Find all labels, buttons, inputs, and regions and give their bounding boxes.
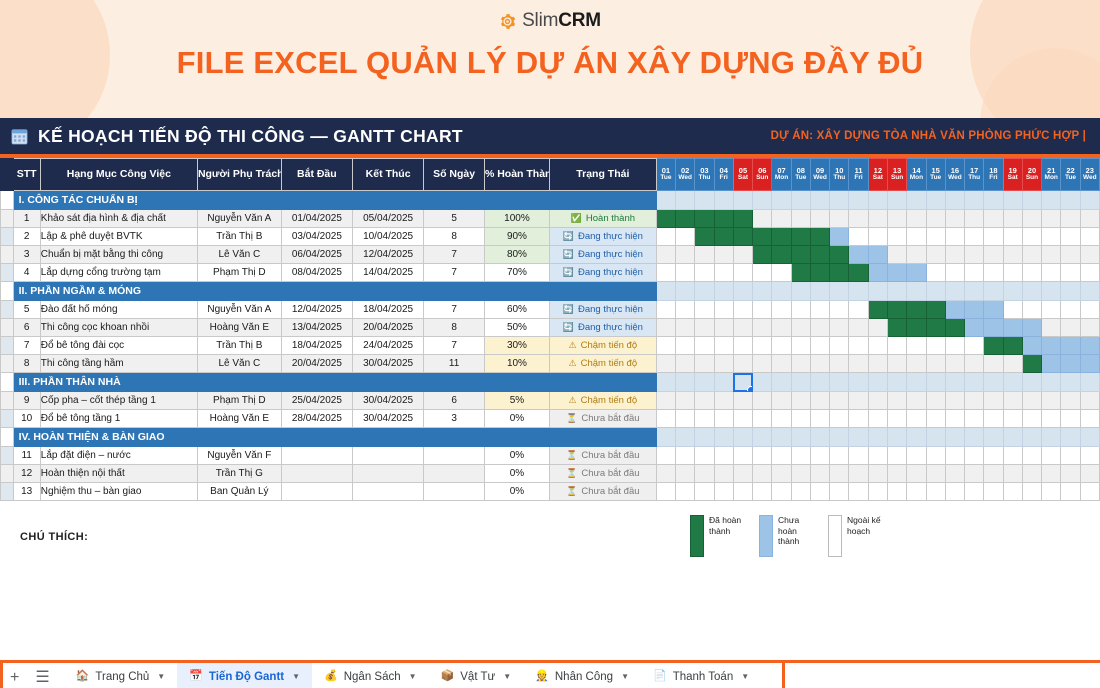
col-header-end[interactable]: Kết Thúc xyxy=(352,159,423,191)
gantt-cell-empty[interactable] xyxy=(1080,410,1099,428)
gantt-cell-empty[interactable] xyxy=(887,447,906,465)
gantt-cell-empty[interactable] xyxy=(849,319,868,337)
gantt-bar-completed[interactable] xyxy=(945,319,964,337)
cell-start-date[interactable]: 28/04/2025 xyxy=(281,410,352,428)
gantt-cell-empty[interactable] xyxy=(965,465,984,483)
cell-start-date[interactable] xyxy=(281,465,352,483)
cell-task-name[interactable]: Thi công cọc khoan nhồi xyxy=(40,319,197,337)
gantt-cell-empty[interactable] xyxy=(926,465,945,483)
gantt-cell-empty[interactable] xyxy=(907,465,926,483)
gantt-cell-empty[interactable] xyxy=(714,355,733,373)
gantt-cell-empty[interactable] xyxy=(656,465,675,483)
gantt-bar-completed[interactable] xyxy=(887,301,906,319)
gantt-cell-empty[interactable] xyxy=(965,246,984,264)
gantt-cell-empty[interactable] xyxy=(1003,301,1022,319)
gantt-cell-empty[interactable] xyxy=(945,410,964,428)
section-gantt-cell[interactable] xyxy=(945,282,964,301)
gantt-cell-empty[interactable] xyxy=(1022,264,1041,282)
gantt-bar-remaining[interactable] xyxy=(887,264,906,282)
gantt-cell-empty[interactable] xyxy=(1080,392,1099,410)
gantt-bar-remaining[interactable] xyxy=(1080,355,1099,373)
chevron-down-icon[interactable]: ▼ xyxy=(292,672,300,681)
table-row[interactable]: 1Khảo sát địa hình & địa chấtNguyễn Văn … xyxy=(1,210,1100,228)
gantt-cell-empty[interactable] xyxy=(965,337,984,355)
section-gantt-cell[interactable] xyxy=(676,428,695,447)
gantt-cell-empty[interactable] xyxy=(772,392,791,410)
gantt-bar-completed[interactable] xyxy=(810,264,829,282)
section-gantt-cell[interactable] xyxy=(791,282,810,301)
gantt-bar-remaining[interactable] xyxy=(1080,337,1099,355)
gantt-cell-empty[interactable] xyxy=(868,319,887,337)
section-gantt-cell[interactable] xyxy=(965,191,984,210)
cell-duration-days[interactable]: 8 xyxy=(424,228,485,246)
gantt-bar-completed[interactable] xyxy=(676,210,695,228)
gantt-cell-empty[interactable] xyxy=(868,355,887,373)
gantt-cell-empty[interactable] xyxy=(1061,465,1080,483)
gantt-cell-empty[interactable] xyxy=(984,210,1003,228)
all-sheets-menu-button[interactable]: ☰ xyxy=(35,670,49,686)
row-gutter[interactable] xyxy=(1,447,14,465)
section-gantt-cell[interactable] xyxy=(907,282,926,301)
gantt-cell-empty[interactable] xyxy=(887,392,906,410)
section-gantt-cell[interactable] xyxy=(1080,428,1099,447)
gantt-cell-empty[interactable] xyxy=(830,301,849,319)
cell-stt[interactable]: 12 xyxy=(13,465,40,483)
cell-person[interactable]: Hoàng Văn E xyxy=(197,319,281,337)
gantt-cell-empty[interactable] xyxy=(810,465,829,483)
gantt-cell-empty[interactable] xyxy=(1022,210,1041,228)
gantt-cell-empty[interactable] xyxy=(965,392,984,410)
section-gantt-cell[interactable] xyxy=(887,282,906,301)
gantt-cell-empty[interactable] xyxy=(849,210,868,228)
section-gantt-cell[interactable] xyxy=(984,191,1003,210)
section-gantt-cell[interactable] xyxy=(656,428,675,447)
section-gantt-cell[interactable] xyxy=(791,428,810,447)
cell-start-date[interactable]: 13/04/2025 xyxy=(281,319,352,337)
gantt-cell-empty[interactable] xyxy=(656,337,675,355)
gantt-bar-completed[interactable] xyxy=(733,210,752,228)
section-row[interactable]: II. PHẦN NGẦM & MÓNG xyxy=(1,282,1100,301)
gantt-cell-empty[interactable] xyxy=(772,264,791,282)
gantt-cell-empty[interactable] xyxy=(984,447,1003,465)
gantt-cell-empty[interactable] xyxy=(926,447,945,465)
gantt-cell-empty[interactable] xyxy=(695,301,714,319)
day-header-22[interactable]: 22Tue xyxy=(1061,159,1080,191)
cell-status[interactable]: ⚠Chậm tiến độ xyxy=(549,337,656,355)
cell-end-date[interactable]: 10/04/2025 xyxy=(352,228,423,246)
gantt-cell-empty[interactable] xyxy=(1080,483,1099,501)
gantt-cell-empty[interactable] xyxy=(926,392,945,410)
section-gantt-cell[interactable] xyxy=(945,191,964,210)
gantt-cell-empty[interactable] xyxy=(676,483,695,501)
cell-start-date[interactable] xyxy=(281,447,352,465)
col-header-status[interactable]: Trạng Thái xyxy=(549,159,656,191)
cell-status[interactable]: ⏳Chưa bắt đầu xyxy=(549,447,656,465)
gantt-bar-completed[interactable] xyxy=(926,319,945,337)
section-gantt-cell[interactable] xyxy=(810,282,829,301)
gantt-cell-empty[interactable] xyxy=(1061,319,1080,337)
gantt-cell-empty[interactable] xyxy=(887,483,906,501)
cell-person[interactable]: Phạm Thị D xyxy=(197,392,281,410)
gantt-cell-empty[interactable] xyxy=(1061,264,1080,282)
gantt-cell-empty[interactable] xyxy=(791,410,810,428)
gantt-cell-empty[interactable] xyxy=(791,483,810,501)
table-row[interactable]: 3Chuẩn bị mặt bằng thi côngLê Văn C06/04… xyxy=(1,246,1100,264)
gantt-cell-empty[interactable] xyxy=(1080,301,1099,319)
row-gutter[interactable] xyxy=(1,483,14,501)
section-gantt-cell[interactable] xyxy=(849,282,868,301)
gantt-cell-empty[interactable] xyxy=(926,246,945,264)
section-gantt-cell[interactable] xyxy=(1042,282,1061,301)
day-header-03[interactable]: 03Thu xyxy=(695,159,714,191)
gantt-cell-empty[interactable] xyxy=(1061,483,1080,501)
row-gutter[interactable] xyxy=(1,392,14,410)
cell-start-date[interactable]: 01/04/2025 xyxy=(281,210,352,228)
gantt-cell-empty[interactable] xyxy=(887,210,906,228)
gantt-cell-empty[interactable] xyxy=(926,410,945,428)
gantt-cell-empty[interactable] xyxy=(1022,246,1041,264)
gantt-cell-empty[interactable] xyxy=(945,228,964,246)
gantt-cell-empty[interactable] xyxy=(1003,483,1022,501)
gantt-cell-empty[interactable] xyxy=(656,447,675,465)
gantt-cell-empty[interactable] xyxy=(733,301,752,319)
gantt-cell-empty[interactable] xyxy=(907,337,926,355)
cell-duration-days[interactable]: 7 xyxy=(424,264,485,282)
section-gantt-cell[interactable] xyxy=(830,373,849,392)
cell-task-name[interactable]: Đào đất hố móng xyxy=(40,301,197,319)
gantt-cell-empty[interactable] xyxy=(753,210,772,228)
gantt-cell-empty[interactable] xyxy=(945,337,964,355)
section-gantt-cell[interactable] xyxy=(945,428,964,447)
cell-task-name[interactable]: Đổ bê tông tầng 1 xyxy=(40,410,197,428)
cell-end-date[interactable]: 30/04/2025 xyxy=(352,410,423,428)
gantt-cell-empty[interactable] xyxy=(810,355,829,373)
cell-task-name[interactable]: Lập & phê duyệt BVTK xyxy=(40,228,197,246)
gantt-bar-remaining[interactable] xyxy=(830,228,849,246)
gantt-cell-empty[interactable] xyxy=(1022,228,1041,246)
gantt-cell-empty[interactable] xyxy=(656,392,675,410)
gantt-bar-remaining[interactable] xyxy=(868,246,887,264)
gantt-cell-empty[interactable] xyxy=(1022,410,1041,428)
cell-person[interactable]: Nguyễn Văn A xyxy=(197,301,281,319)
day-header-15[interactable]: 15Tue xyxy=(926,159,945,191)
gantt-cell-empty[interactable] xyxy=(984,410,1003,428)
cell-start-date[interactable]: 06/04/2025 xyxy=(281,246,352,264)
gantt-cell-empty[interactable] xyxy=(830,337,849,355)
gantt-cell-empty[interactable] xyxy=(656,355,675,373)
gantt-bar-completed[interactable] xyxy=(810,246,829,264)
section-gantt-cell[interactable] xyxy=(1022,282,1041,301)
gantt-cell-empty[interactable] xyxy=(676,264,695,282)
cell-percent-complete[interactable]: 30% xyxy=(484,337,549,355)
section-gantt-cell[interactable] xyxy=(926,373,945,392)
section-gantt-cell[interactable] xyxy=(695,282,714,301)
gantt-cell-empty[interactable] xyxy=(791,355,810,373)
gantt-cell-empty[interactable] xyxy=(984,264,1003,282)
day-header-08[interactable]: 08Tue xyxy=(791,159,810,191)
gantt-cell-empty[interactable] xyxy=(714,392,733,410)
day-header-14[interactable]: 14Mon xyxy=(907,159,926,191)
gantt-cell-empty[interactable] xyxy=(965,264,984,282)
day-header-16[interactable]: 16Wed xyxy=(945,159,964,191)
gantt-cell-empty[interactable] xyxy=(676,301,695,319)
gantt-cell-empty[interactable] xyxy=(1061,228,1080,246)
gantt-cell-empty[interactable] xyxy=(1061,301,1080,319)
row-gutter[interactable] xyxy=(1,228,14,246)
section-gantt-cell[interactable] xyxy=(676,282,695,301)
gantt-bar-remaining[interactable] xyxy=(868,264,887,282)
section-gantt-cell[interactable] xyxy=(1042,428,1061,447)
cell-task-name[interactable]: Cốp pha – cốt thép tầng 1 xyxy=(40,392,197,410)
gantt-bar-completed[interactable] xyxy=(791,228,810,246)
cell-task-name[interactable]: Đổ bê tông đài cọc xyxy=(40,337,197,355)
section-gantt-cell[interactable] xyxy=(1042,191,1061,210)
cell-task-name[interactable]: Chuẩn bị mặt bằng thi công xyxy=(40,246,197,264)
cell-task-name[interactable]: Nghiệm thu – bàn giao xyxy=(40,483,197,501)
gantt-cell-empty[interactable] xyxy=(772,410,791,428)
gantt-cell-empty[interactable] xyxy=(1042,319,1061,337)
gantt-cell-empty[interactable] xyxy=(887,246,906,264)
cell-person[interactable]: Phạm Thị D xyxy=(197,264,281,282)
cell-stt[interactable]: 7 xyxy=(13,337,40,355)
cell-end-date[interactable]: 24/04/2025 xyxy=(352,337,423,355)
cell-duration-days[interactable]: 7 xyxy=(424,337,485,355)
gantt-cell-empty[interactable] xyxy=(1042,483,1061,501)
gantt-cell-empty[interactable] xyxy=(810,483,829,501)
section-gantt-cell[interactable] xyxy=(733,282,752,301)
section-gantt-cell[interactable] xyxy=(868,373,887,392)
gantt-cell-empty[interactable] xyxy=(849,355,868,373)
gantt-cell-empty[interactable] xyxy=(868,465,887,483)
cell-stt[interactable]: 3 xyxy=(13,246,40,264)
col-header-task[interactable]: Hạng Mục Công Việc xyxy=(40,159,197,191)
gantt-cell-empty[interactable] xyxy=(849,228,868,246)
gantt-cell-empty[interactable] xyxy=(887,465,906,483)
day-header-23[interactable]: 23Wed xyxy=(1080,159,1099,191)
gantt-cell-empty[interactable] xyxy=(753,337,772,355)
gantt-cell-empty[interactable] xyxy=(772,301,791,319)
gantt-cell-empty[interactable] xyxy=(868,410,887,428)
cell-duration-days[interactable]: 7 xyxy=(424,301,485,319)
gantt-cell-empty[interactable] xyxy=(887,410,906,428)
cell-start-date[interactable]: 18/04/2025 xyxy=(281,337,352,355)
gantt-bar-completed[interactable] xyxy=(772,228,791,246)
section-gantt-cell[interactable] xyxy=(926,282,945,301)
gantt-bar-remaining[interactable] xyxy=(1022,319,1041,337)
cell-percent-complete[interactable]: 10% xyxy=(484,355,549,373)
table-row[interactable]: 5Đào đất hố móngNguyễn Văn A12/04/202518… xyxy=(1,301,1100,319)
section-gantt-cell[interactable] xyxy=(772,373,791,392)
gantt-cell-empty[interactable] xyxy=(791,392,810,410)
cell-stt[interactable]: 1 xyxy=(13,210,40,228)
day-header-01[interactable]: 01Tue xyxy=(656,159,675,191)
cell-duration-days[interactable] xyxy=(424,465,485,483)
sheet-tab-trang-chủ[interactable]: 🏠Trang Chủ▼ xyxy=(64,663,178,688)
gantt-bar-completed[interactable] xyxy=(791,264,810,282)
cell-start-date[interactable]: 12/04/2025 xyxy=(281,301,352,319)
gantt-bar-remaining[interactable] xyxy=(984,319,1003,337)
gantt-cell-empty[interactable] xyxy=(907,392,926,410)
section-gantt-cell[interactable] xyxy=(753,282,772,301)
gantt-cell-empty[interactable] xyxy=(830,355,849,373)
gantt-cell-empty[interactable] xyxy=(1080,264,1099,282)
gantt-bar-remaining[interactable] xyxy=(984,301,1003,319)
gantt-cell-empty[interactable] xyxy=(695,392,714,410)
gantt-cell-empty[interactable] xyxy=(1022,465,1041,483)
gantt-bar-completed[interactable] xyxy=(714,210,733,228)
day-header-20[interactable]: 20Sun xyxy=(1022,159,1041,191)
gantt-cell-empty[interactable] xyxy=(695,319,714,337)
gantt-cell-empty[interactable] xyxy=(695,410,714,428)
section-gantt-cell[interactable] xyxy=(926,191,945,210)
cell-status[interactable]: 🔄Đang thực hiện xyxy=(549,319,656,337)
section-row[interactable]: III. PHẦN THÂN NHÀ xyxy=(1,373,1100,392)
gantt-cell-empty[interactable] xyxy=(965,355,984,373)
gantt-cell-empty[interactable] xyxy=(791,447,810,465)
gantt-cell-empty[interactable] xyxy=(1003,410,1022,428)
cell-duration-days[interactable] xyxy=(424,483,485,501)
section-gantt-cell[interactable] xyxy=(733,191,752,210)
gantt-cell-empty[interactable] xyxy=(830,447,849,465)
gantt-cell-empty[interactable] xyxy=(714,301,733,319)
gantt-bar-remaining[interactable] xyxy=(907,264,926,282)
day-header-12[interactable]: 12Sat xyxy=(868,159,887,191)
gantt-cell-empty[interactable] xyxy=(753,301,772,319)
section-gantt-cell[interactable] xyxy=(810,191,829,210)
gantt-cell-empty[interactable] xyxy=(1042,264,1061,282)
gantt-cell-empty[interactable] xyxy=(695,483,714,501)
gantt-cell-empty[interactable] xyxy=(849,447,868,465)
gantt-bar-completed[interactable] xyxy=(772,246,791,264)
gantt-bar-remaining[interactable] xyxy=(1061,337,1080,355)
row-gutter[interactable] xyxy=(1,301,14,319)
cell-duration-days[interactable]: 3 xyxy=(424,410,485,428)
gantt-cell-empty[interactable] xyxy=(965,447,984,465)
gantt-cell-empty[interactable] xyxy=(772,319,791,337)
gantt-cell-empty[interactable] xyxy=(753,465,772,483)
cell-status[interactable]: ⚠Chậm tiến độ xyxy=(549,392,656,410)
section-gantt-cell[interactable] xyxy=(772,428,791,447)
cell-stt[interactable]: 6 xyxy=(13,319,40,337)
cell-stt[interactable]: 5 xyxy=(13,301,40,319)
gantt-cell-empty[interactable] xyxy=(830,210,849,228)
day-header-13[interactable]: 13Sun xyxy=(887,159,906,191)
gantt-cell-empty[interactable] xyxy=(733,447,752,465)
gantt-cell-empty[interactable] xyxy=(830,410,849,428)
section-gantt-cell[interactable] xyxy=(1003,191,1022,210)
day-header-07[interactable]: 07Mon xyxy=(772,159,791,191)
cell-task-name[interactable]: Lắp dựng cổng trường tạm xyxy=(40,264,197,282)
cell-task-name[interactable]: Hoàn thiện nội thất xyxy=(40,465,197,483)
section-gantt-cell[interactable] xyxy=(984,428,1003,447)
gantt-cell-empty[interactable] xyxy=(810,210,829,228)
gantt-cell-empty[interactable] xyxy=(656,301,675,319)
section-gantt-cell[interactable] xyxy=(1080,373,1099,392)
section-row[interactable]: I. CÔNG TÁC CHUẨN BỊ xyxy=(1,191,1100,210)
table-row[interactable]: 11Lắp đặt điện – nướcNguyễn Văn F0%⏳Chưa… xyxy=(1,447,1100,465)
cell-person[interactable]: Nguyễn Văn F xyxy=(197,447,281,465)
gantt-cell-empty[interactable] xyxy=(1061,392,1080,410)
gantt-cell-empty[interactable] xyxy=(714,410,733,428)
gantt-cell-empty[interactable] xyxy=(714,465,733,483)
gantt-cell-empty[interactable] xyxy=(868,337,887,355)
gantt-bar-completed[interactable] xyxy=(926,301,945,319)
gantt-bar-completed[interactable] xyxy=(753,228,772,246)
gantt-cell-empty[interactable] xyxy=(733,392,752,410)
cell-status[interactable]: 🔄Đang thực hiện xyxy=(549,301,656,319)
gantt-cell-empty[interactable] xyxy=(945,392,964,410)
gantt-cell-empty[interactable] xyxy=(830,319,849,337)
gantt-bar-completed[interactable] xyxy=(830,264,849,282)
chevron-down-icon[interactable]: ▼ xyxy=(503,672,511,681)
section-gantt-cell[interactable] xyxy=(984,373,1003,392)
cell-duration-days[interactable]: 6 xyxy=(424,392,485,410)
gantt-bar-completed[interactable] xyxy=(984,337,1003,355)
gantt-bar-completed[interactable] xyxy=(887,319,906,337)
gantt-cell-empty[interactable] xyxy=(1003,447,1022,465)
gantt-cell-empty[interactable] xyxy=(676,228,695,246)
gantt-cell-empty[interactable] xyxy=(868,483,887,501)
gantt-cell-empty[interactable] xyxy=(656,228,675,246)
gantt-cell-empty[interactable] xyxy=(676,246,695,264)
gantt-cell-empty[interactable] xyxy=(695,465,714,483)
gantt-cell-empty[interactable] xyxy=(1042,410,1061,428)
cell-start-date[interactable]: 20/04/2025 xyxy=(281,355,352,373)
table-row[interactable]: 10Đổ bê tông tầng 1Hoàng Văn E28/04/2025… xyxy=(1,410,1100,428)
sheet-tab-thanh-toán[interactable]: 📄Thanh Toán▼ xyxy=(641,663,761,688)
gantt-cell-empty[interactable] xyxy=(772,483,791,501)
section-gantt-cell[interactable] xyxy=(714,373,733,392)
gantt-cell-empty[interactable] xyxy=(984,465,1003,483)
cell-status[interactable]: 🔄Đang thực hiện xyxy=(549,246,656,264)
gantt-bar-completed[interactable] xyxy=(695,210,714,228)
section-gantt-cell[interactable] xyxy=(907,428,926,447)
gantt-cell-empty[interactable] xyxy=(1080,246,1099,264)
cell-person[interactable]: Lê Văn C xyxy=(197,355,281,373)
cell-stt[interactable]: 2 xyxy=(13,228,40,246)
gantt-cell-empty[interactable] xyxy=(1042,392,1061,410)
cell-end-date[interactable] xyxy=(352,465,423,483)
gantt-cell-empty[interactable] xyxy=(984,228,1003,246)
gantt-cell-empty[interactable] xyxy=(945,264,964,282)
cell-status[interactable]: ⚠Chậm tiến độ xyxy=(549,355,656,373)
gantt-cell-empty[interactable] xyxy=(810,410,829,428)
gantt-cell-empty[interactable] xyxy=(656,264,675,282)
section-gantt-cell[interactable] xyxy=(868,428,887,447)
cell-percent-complete[interactable]: 50% xyxy=(484,319,549,337)
gantt-cell-empty[interactable] xyxy=(1042,447,1061,465)
gantt-cell-empty[interactable] xyxy=(772,465,791,483)
cell-end-date[interactable]: 05/04/2025 xyxy=(352,210,423,228)
cell-percent-complete[interactable]: 60% xyxy=(484,301,549,319)
gantt-cell-empty[interactable] xyxy=(1042,210,1061,228)
gantt-cell-empty[interactable] xyxy=(714,319,733,337)
row-gutter[interactable] xyxy=(1,191,14,210)
gantt-cell-empty[interactable] xyxy=(1080,319,1099,337)
gantt-cell-empty[interactable] xyxy=(714,264,733,282)
sheet-tab-tiến-độ-gantt[interactable]: 📅Tiến Độ Gantt▼ xyxy=(177,663,312,688)
section-gantt-cell[interactable] xyxy=(1061,282,1080,301)
gantt-cell-empty[interactable] xyxy=(1042,246,1061,264)
gantt-bar-completed[interactable] xyxy=(753,246,772,264)
section-gantt-cell[interactable] xyxy=(753,191,772,210)
gantt-cell-empty[interactable] xyxy=(1022,483,1041,501)
section-gantt-cell[interactable] xyxy=(965,282,984,301)
cell-task-name[interactable]: Khảo sát địa hình & địa chất xyxy=(40,210,197,228)
gantt-cell-empty[interactable] xyxy=(714,337,733,355)
section-gantt-cell[interactable] xyxy=(1061,191,1080,210)
row-gutter[interactable] xyxy=(1,428,14,447)
